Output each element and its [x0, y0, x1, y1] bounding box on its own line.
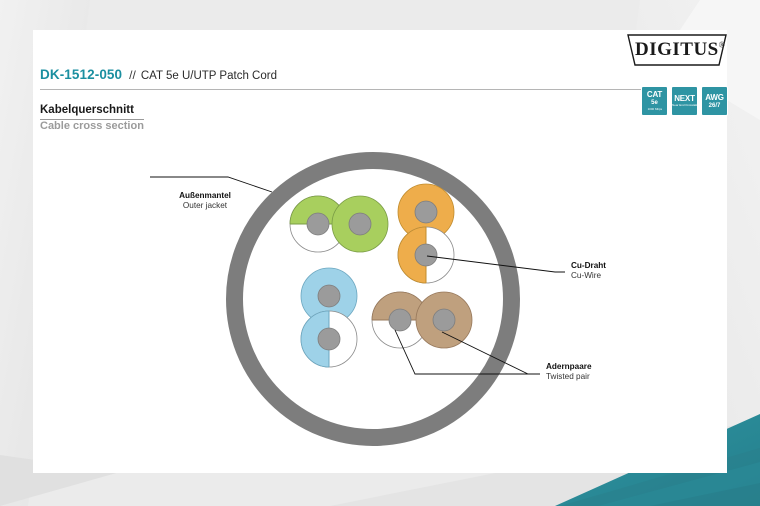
callout-twisted-pair-de: Adernpaare [546, 362, 592, 372]
green-wire-striped-core [307, 213, 329, 235]
brown-wire-solid-core [433, 309, 455, 331]
callout-outer-jacket-de: Außenmantel [155, 191, 255, 201]
callout-cu-wire: Cu-Draht Cu-Wire [571, 261, 606, 282]
cable-cross-section-diagram: Außenmantel Outer jacket Cu-Draht Cu-Wir… [33, 30, 727, 473]
green-pair [290, 196, 388, 252]
callout-cu-wire-en: Cu-Wire [571, 271, 606, 281]
diagram-svg [33, 30, 727, 473]
brown-wire-striped-core [389, 309, 411, 331]
callout-outer-jacket: Außenmantel Outer jacket [155, 191, 255, 212]
callout-twisted-pair: Adernpaare Twisted pair [546, 362, 592, 383]
blue-wire-striped-core [318, 328, 340, 350]
callout-twisted-pair-en: Twisted pair [546, 372, 592, 382]
callout-cu-wire-de: Cu-Draht [571, 261, 606, 271]
orange-wire-solid-core [415, 201, 437, 223]
blue-pair [301, 268, 357, 367]
callout-outer-jacket-en: Outer jacket [155, 201, 255, 211]
orange-wire-striped-core [415, 244, 437, 266]
green-wire-solid-core [349, 213, 371, 235]
blue-wire-solid-core [318, 285, 340, 307]
leader-outer-jacket [150, 177, 272, 192]
orange-pair [398, 184, 454, 283]
